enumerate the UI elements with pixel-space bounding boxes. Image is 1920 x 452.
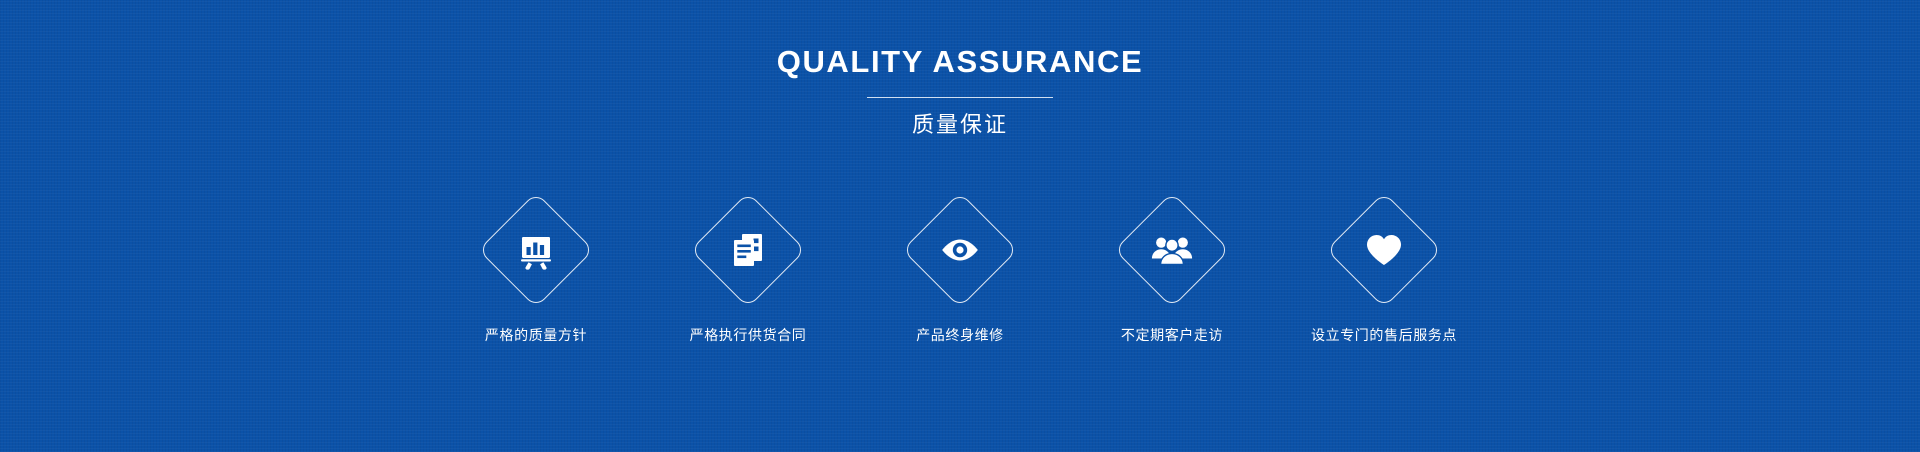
- feature-list: 严格的质量方针: [0, 203, 1920, 345]
- feature-item[interactable]: 严格执行供货合同: [642, 203, 854, 345]
- feature-item[interactable]: 产品终身维修: [854, 203, 1066, 345]
- diamond-frame: [1114, 192, 1230, 308]
- quality-assurance-banner: QUALITY ASSURANCE 质量保证: [0, 0, 1920, 452]
- diamond-frame: [902, 192, 1018, 308]
- banner-heading: QUALITY ASSURANCE 质量保证: [0, 44, 1920, 140]
- diamond-frame: [690, 192, 806, 308]
- feature-label: 产品终身维修: [916, 325, 1004, 345]
- feature-label: 设立专门的售后服务点: [1311, 325, 1457, 345]
- feature-label: 严格执行供货合同: [690, 325, 807, 345]
- heart-icon: [1362, 228, 1406, 272]
- feature-label: 严格的质量方针: [485, 325, 587, 345]
- documents-stack-icon: [726, 228, 770, 272]
- eye-icon: [938, 228, 982, 272]
- presentation-chart-icon: [514, 228, 558, 272]
- feature-item[interactable]: 严格的质量方针: [430, 203, 642, 345]
- feature-item[interactable]: 不定期客户走访: [1066, 203, 1278, 345]
- users-group-icon: [1150, 228, 1194, 272]
- page-subtitle: 质量保证: [0, 110, 1920, 140]
- title-divider: [867, 97, 1053, 98]
- page-title: QUALITY ASSURANCE: [0, 44, 1920, 80]
- diamond-frame: [478, 192, 594, 308]
- diamond-frame: [1326, 192, 1442, 308]
- feature-item[interactable]: 设立专门的售后服务点: [1278, 203, 1490, 345]
- feature-label: 不定期客户走访: [1121, 325, 1223, 345]
